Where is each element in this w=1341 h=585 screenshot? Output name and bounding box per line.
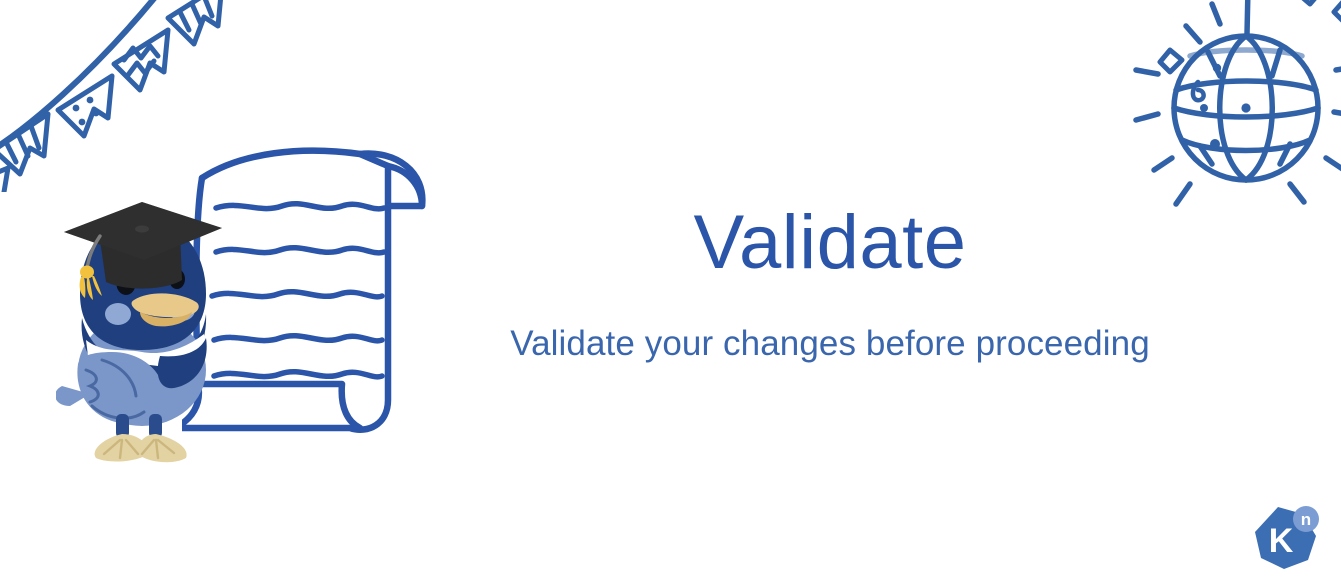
logo-letter-k: K [1269,522,1294,560]
logo-letter-n: n [1301,510,1311,529]
graduate-bird-mascot-icon [56,188,226,473]
party-bunting-icon [0,0,236,192]
page-subtitle: Validate your changes before proceeding [470,325,1190,364]
slide-canvas: Validate Validate your changes before pr… [0,0,1341,585]
certificate-scroll-icon [182,132,462,452]
page-title: Validate [470,205,1190,281]
killercoda-logo[interactable]: K n [1252,505,1320,571]
hero-text-block: Validate Validate your changes before pr… [470,205,1190,364]
disco-ball-icon [1120,0,1341,231]
